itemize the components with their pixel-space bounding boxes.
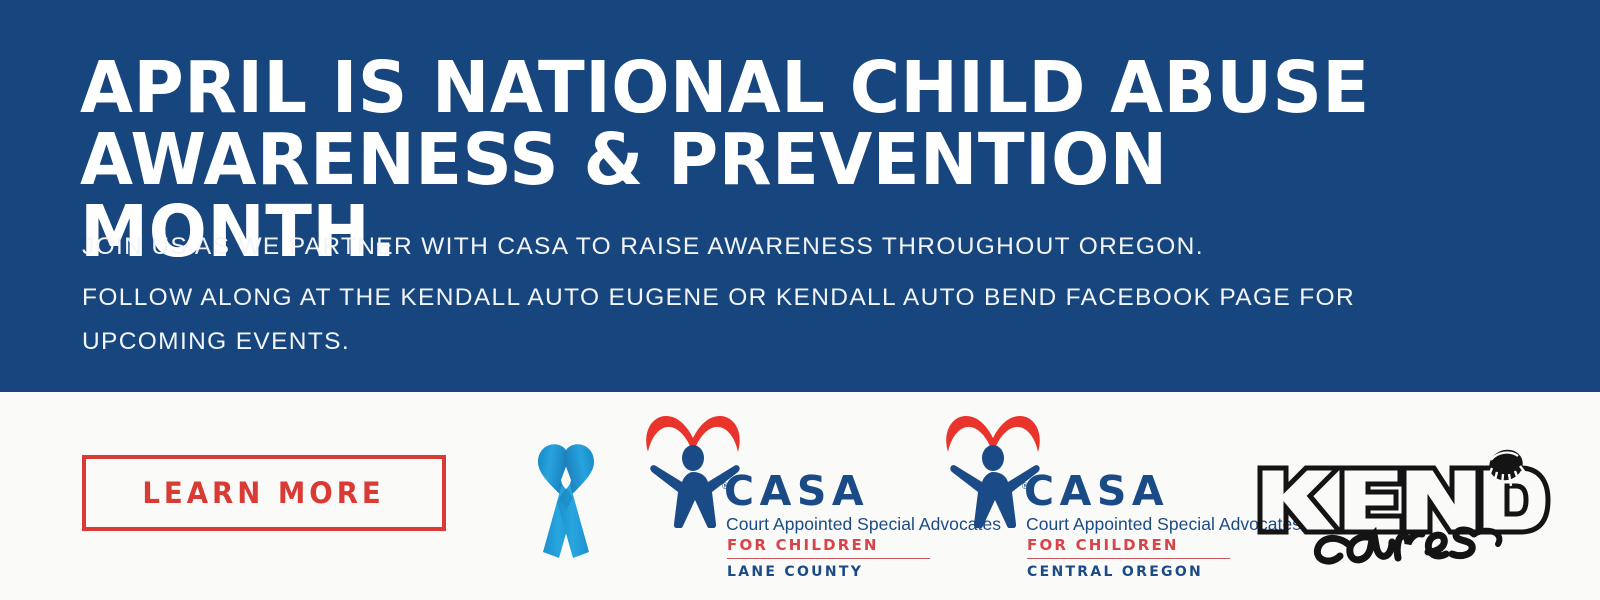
casa-wordmark: CASA <box>724 470 869 512</box>
learn-more-label: LEARN MORE <box>143 476 385 510</box>
casa-wordmark: CASA <box>1024 470 1169 512</box>
cares-script <box>1317 530 1499 561</box>
casa-lane-county-logo: ® CASA Court Appointed Special Advocates… <box>638 408 938 578</box>
casa-for-children: FOR CHILDREN <box>1027 536 1179 554</box>
casa-for-children: FOR CHILDREN <box>727 536 879 554</box>
casa-divider <box>727 558 930 559</box>
casa-central-oregon-logo: ® CASA Court Appointed Special Advocates… <box>938 408 1238 578</box>
promo-banner: APRIL IS NATIONAL CHILD ABUSE AWARENESS … <box>0 0 1600 600</box>
subcopy-line-1: JOIN US AS WE PARTNER WITH CASA TO RAISE… <box>82 233 1204 260</box>
hand-burst-icon <box>1485 445 1528 486</box>
subcopy-line-2: FOLLOW ALONG AT THE KENDALL AUTO EUGENE … <box>82 276 1402 364</box>
casa-region: LANE COUNTY <box>727 564 863 580</box>
casa-region: CENTRAL OREGON <box>1027 564 1203 580</box>
kendall-cares-logo <box>1252 440 1552 565</box>
awareness-ribbon-icon <box>523 440 609 562</box>
casa-divider <box>1027 558 1230 559</box>
hero-section: APRIL IS NATIONAL CHILD ABUSE AWARENESS … <box>0 0 1600 392</box>
hero-subcopy: JOIN US AS WE PARTNER WITH CASA TO RAISE… <box>82 225 1402 364</box>
learn-more-button[interactable]: LEARN MORE <box>82 455 446 531</box>
